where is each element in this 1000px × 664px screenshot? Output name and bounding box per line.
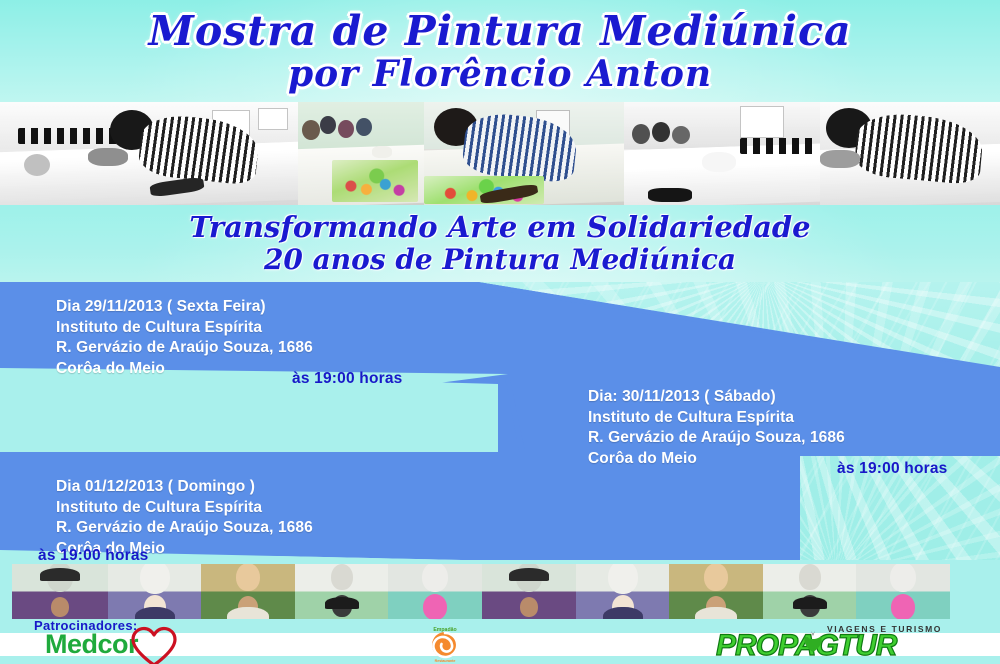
portrait-cell [482,564,576,619]
photo-scene [820,102,1000,205]
event-3-time: às 19:00 horas [38,547,149,560]
heart-icon [130,626,178,664]
poster-subtitle-line-1: Transformando Arte em Solidariedade [189,211,810,244]
poster-subtitle-block: Transformando Arte em Solidariedade 20 a… [0,205,1000,282]
event-1-address: R. Gervázio de Araújo Souza, 1686 [56,338,313,359]
portrait-cell [388,564,482,619]
photo-scene [424,102,624,205]
event-2-time: às 19:00 horas [837,460,948,478]
photo-workshop-table-color [298,102,424,205]
event-2-date: Dia: 30/11/2013 ( Sábado) [588,387,845,408]
bottom-portrait-strip [0,560,1000,622]
event-3-address: R. Gervázio de Araújo Souza, 1686 [56,518,313,539]
portrait-cell [856,564,950,619]
top-photo-strip [0,102,1000,205]
svg-text:Empadão: Empadão [433,627,456,633]
poster-title-line-2: por Florêncio Anton [288,54,712,94]
poster: Mostra de Pintura Mediúnica por Florênci… [0,0,1000,664]
portrait-grid [12,564,1000,619]
poster-subtitle-line-2: 20 anos de Pintura Mediúnica [264,244,736,276]
event-1-date: Dia 29/11/2013 ( Sexta Feira) [56,297,313,318]
photo-artist-painting-color [424,102,624,205]
portrait-cell [12,564,108,619]
event-2-address: R. Gervázio de Araújo Souza, 1686 [588,428,845,449]
portrait-cell [763,564,856,619]
sponsor-logo-propagtur[interactable]: VIAGENS E TURISMO PROPAGTUR [716,622,948,664]
event-1-venue: Instituto de Cultura Espírita [56,318,313,339]
photo-scene [624,102,820,205]
event-2-venue: Instituto de Cultura Espírita [588,408,845,429]
event-1-time: às 19:00 horas [292,370,403,388]
leaf-icon [800,628,826,654]
poster-title-line-1: Mostra de Pintura Mediúnica [148,9,851,53]
sponsor-logo-medcor[interactable]: Medcor [45,629,138,660]
photo-scene [298,102,424,205]
portrait-cell [201,564,295,619]
portrait-cell [669,564,763,619]
event-2-block: Dia: 30/11/2013 ( Sábado) Instituto de C… [588,387,845,469]
events-section: Dia 29/11/2013 ( Sexta Feira) Instituto … [0,282,1000,560]
portrait-cell [108,564,201,619]
spiral-icon: Empadão Restaurante [425,625,465,663]
svg-text:Restaurante: Restaurante [435,659,456,663]
photo-artist-painting-bw [0,102,298,205]
portrait-cell [295,564,388,619]
photo-scene [0,102,298,205]
event-1-block: Dia 29/11/2013 ( Sexta Feira) Instituto … [56,297,313,379]
poster-title-block: Mostra de Pintura Mediúnica por Florênci… [0,0,1000,102]
sponsor-logo-empadao[interactable]: Empadão Restaurante [424,624,466,664]
portrait-cell [576,564,669,619]
event-1-neighborhood: Corôa do Meio [56,359,313,380]
event-3-date: Dia 01/12/2013 ( Domingo ) [56,477,313,498]
photo-workshop-table-bw [624,102,820,205]
event-2-neighborhood: Corôa do Meio [588,449,845,470]
photo-artist-painting-bw-2 [820,102,1000,205]
event-3-venue: Instituto de Cultura Espírita [56,498,313,519]
